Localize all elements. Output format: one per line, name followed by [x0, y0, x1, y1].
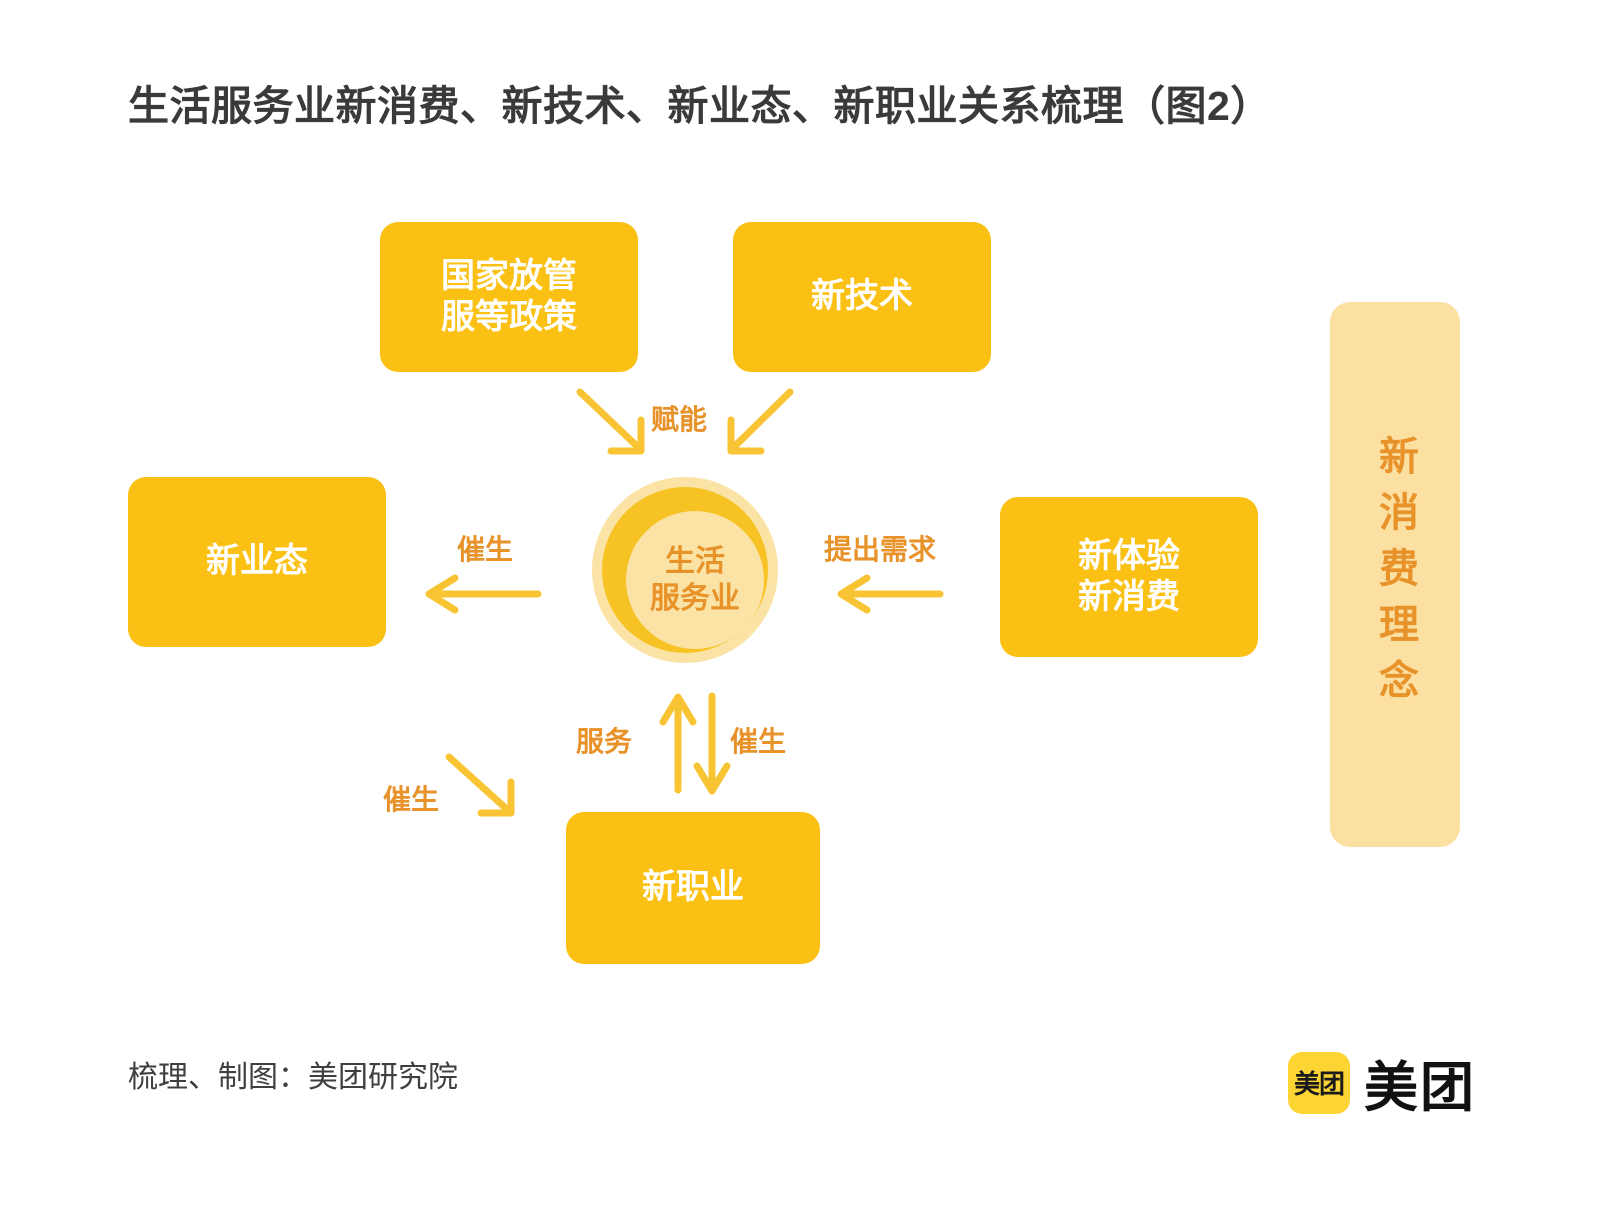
page-title: 生活服务业新消费、新技术、新业态、新职业关系梳理（图2） [128, 72, 1272, 132]
center-node-line-1: 生活 [650, 543, 740, 581]
footer-credit: 梳理、制图：美团研究院 [128, 1052, 458, 1096]
node-new-business-format-label: 新业态 [206, 541, 308, 582]
center-ring: 生活 服务业 [602, 487, 768, 653]
diagram-canvas: 生活服务业新消费、新技术、新业态、新职业关系梳理（图2） .ar{fill:no… [0, 0, 1608, 1215]
node-policy[interactable]: 国家放管 服等政策 [380, 222, 638, 372]
node-new-experience-consumption[interactable]: 新体验 新消费 [1000, 497, 1258, 657]
arrow-label-spawn-bottom: 催生 [730, 720, 786, 760]
arrow-label-service: 服务 [576, 720, 632, 760]
arrow-center-to-format [429, 578, 538, 610]
node-new-occupation[interactable]: 新职业 [566, 812, 820, 964]
center-node-life-services[interactable]: 生活 服务业 [592, 477, 778, 663]
arrow-experience-to-center [841, 578, 940, 610]
meituan-logo-wordmark: 美团 [1364, 1043, 1476, 1122]
node-new-occupation-label: 新职业 [642, 867, 744, 908]
arrow-label-raise-demand: 提出需求 [824, 528, 936, 568]
node-new-consumption-concept-label: 新消费理念 [1375, 435, 1415, 715]
node-new-technology-label: 新技术 [811, 276, 913, 317]
arrow-label-spawn-diagonal: 催生 [383, 778, 439, 818]
node-policy-line-2: 服等政策 [441, 297, 577, 338]
node-new-consumption-concept[interactable]: 新消费理念 [1330, 302, 1460, 847]
node-new-experience-line-1: 新体验 [1078, 536, 1180, 577]
center-node-line-2: 服务业 [650, 580, 740, 618]
node-policy-line-1: 国家放管 [441, 256, 577, 297]
arrow-job-to-center [663, 697, 693, 790]
arrow-center-to-job [697, 696, 727, 791]
center-inner-disc: 生活 服务业 [626, 511, 764, 649]
arrow-label-empower: 赋能 [651, 398, 707, 438]
arrow-format-to-job [449, 757, 511, 813]
arrow-label-spawn-left: 催生 [457, 528, 513, 568]
meituan-logo: 美团 美团 [1288, 1043, 1476, 1122]
meituan-logo-mark: 美团 [1288, 1052, 1350, 1114]
node-new-technology[interactable]: 新技术 [733, 222, 991, 372]
node-new-experience-line-2: 新消费 [1078, 577, 1180, 618]
arrow-tech-to-center [731, 392, 790, 451]
arrow-policy-to-center [580, 392, 641, 451]
node-new-business-format[interactable]: 新业态 [128, 477, 386, 647]
